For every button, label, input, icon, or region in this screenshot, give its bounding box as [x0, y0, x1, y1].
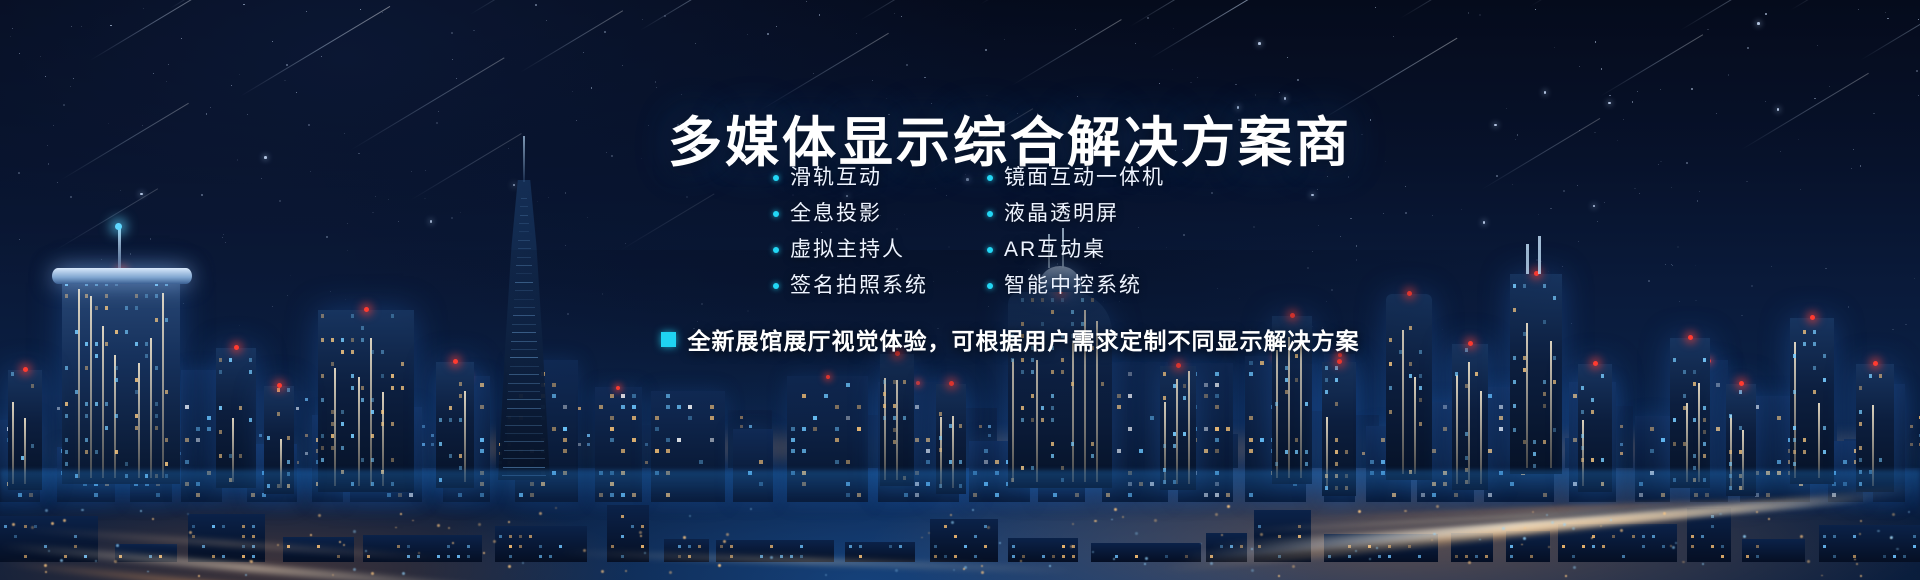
feature-item[interactable]: 滑轨互动: [773, 166, 987, 190]
hero-banner: 多媒体显示综合解决方案商 滑轨互动 全息投影 虚拟主持人 签名拍照系统: [0, 0, 1920, 580]
bullet-dot-icon: [987, 247, 993, 253]
feature-column-right: 镜面互动一体机 液晶透明屏 AR互动桌 智能中控系统: [987, 166, 1247, 298]
feature-item[interactable]: AR互动桌: [987, 238, 1247, 262]
feature-label: 智能中控系统: [1004, 275, 1142, 297]
bullet-dot-icon: [987, 175, 993, 181]
feature-item[interactable]: 虚拟主持人: [773, 238, 987, 262]
bullet-dot-icon: [987, 283, 993, 289]
tagline-text: 全新展馆展厅视觉体验，可根据用户需求定制不同显示解决方案: [688, 322, 1360, 356]
bullet-dot-icon: [987, 211, 993, 217]
feature-label: 全息投影: [790, 203, 882, 225]
bullet-dot-icon: [773, 211, 779, 217]
feature-label: 液晶透明屏: [1004, 203, 1119, 225]
feature-item[interactable]: 镜面互动一体机: [987, 166, 1247, 190]
feature-item[interactable]: 液晶透明屏: [987, 202, 1247, 226]
tagline: 全新展馆展厅视觉体验，可根据用户需求定制不同显示解决方案: [0, 322, 1920, 356]
page-title: 多媒体显示综合解决方案商: [0, 116, 1920, 170]
feature-label: AR互动桌: [1004, 239, 1106, 261]
feature-item[interactable]: 全息投影: [773, 202, 987, 226]
feature-label: 签名拍照系统: [790, 275, 928, 297]
feature-label: 镜面互动一体机: [1004, 167, 1165, 189]
feature-label: 滑轨互动: [790, 167, 882, 189]
feature-list: 滑轨互动 全息投影 虚拟主持人 签名拍照系统 镜面互动一体: [0, 166, 1920, 298]
bullet-dot-icon: [773, 283, 779, 289]
feature-label: 虚拟主持人: [790, 239, 905, 261]
banner-content: 多媒体显示综合解决方案商 滑轨互动 全息投影 虚拟主持人 签名拍照系统: [0, 0, 1920, 580]
feature-item[interactable]: 签名拍照系统: [773, 274, 987, 298]
feature-column-left: 滑轨互动 全息投影 虚拟主持人 签名拍照系统: [773, 166, 987, 298]
feature-item[interactable]: 智能中控系统: [987, 274, 1247, 298]
square-bullet-icon: [661, 332, 676, 347]
bullet-dot-icon: [773, 247, 779, 253]
bullet-dot-icon: [773, 175, 779, 181]
